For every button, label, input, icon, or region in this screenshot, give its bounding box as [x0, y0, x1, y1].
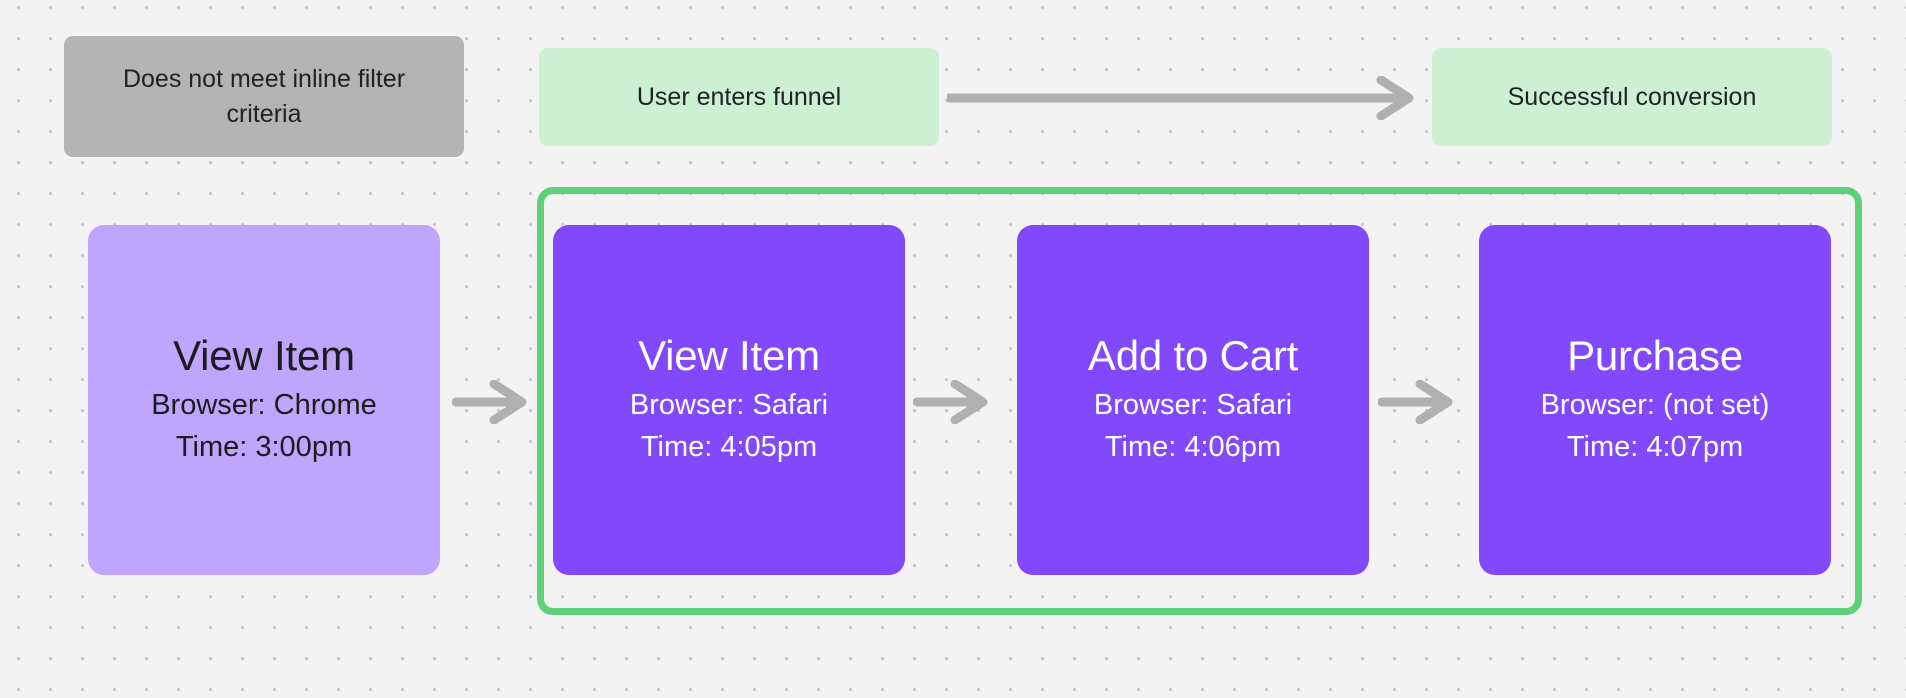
event-browser: Browser: Chrome [151, 385, 377, 426]
legend-successful-conversion-label: Successful conversion [1508, 80, 1757, 115]
step-arrow-2 [913, 380, 997, 424]
event-card-excluded[interactable]: View Item Browser: Chrome Time: 3:00pm [88, 225, 440, 575]
legend-excluded-label: Does not meet inline filter criteria [86, 62, 442, 131]
event-browser: Browser: Safari [1094, 385, 1292, 426]
arrow-right-icon [947, 76, 1425, 120]
event-time: Time: 4:06pm [1105, 427, 1281, 468]
arrow-right-icon [913, 380, 997, 424]
event-title: View Item [173, 332, 355, 379]
diagram-canvas: Does not meet inline filter criteria Use… [0, 0, 1906, 698]
event-title: Purchase [1567, 332, 1743, 379]
legend-excluded-box: Does not meet inline filter criteria [64, 36, 464, 157]
event-card-add-to-cart[interactable]: Add to Cart Browser: Safari Time: 4:06pm [1017, 225, 1369, 575]
event-time: Time: 4:07pm [1567, 427, 1743, 468]
legend-connector-arrow [947, 76, 1425, 120]
legend-enters-funnel-box: User enters funnel [539, 48, 939, 146]
event-browser: Browser: (not set) [1541, 385, 1770, 426]
step-arrow-3 [1378, 380, 1462, 424]
legend-enters-funnel-label: User enters funnel [637, 80, 841, 115]
event-card-purchase[interactable]: Purchase Browser: (not set) Time: 4:07pm [1479, 225, 1831, 575]
event-card-view-item[interactable]: View Item Browser: Safari Time: 4:05pm [553, 225, 905, 575]
event-title: Add to Cart [1088, 332, 1298, 379]
event-title: View Item [638, 332, 820, 379]
event-time: Time: 4:05pm [641, 427, 817, 468]
arrow-right-icon [452, 380, 536, 424]
arrow-right-icon [1378, 380, 1462, 424]
step-arrow-1 [452, 380, 536, 424]
event-browser: Browser: Safari [630, 385, 828, 426]
event-time: Time: 3:00pm [176, 427, 352, 468]
legend-successful-conversion-box: Successful conversion [1432, 48, 1832, 146]
